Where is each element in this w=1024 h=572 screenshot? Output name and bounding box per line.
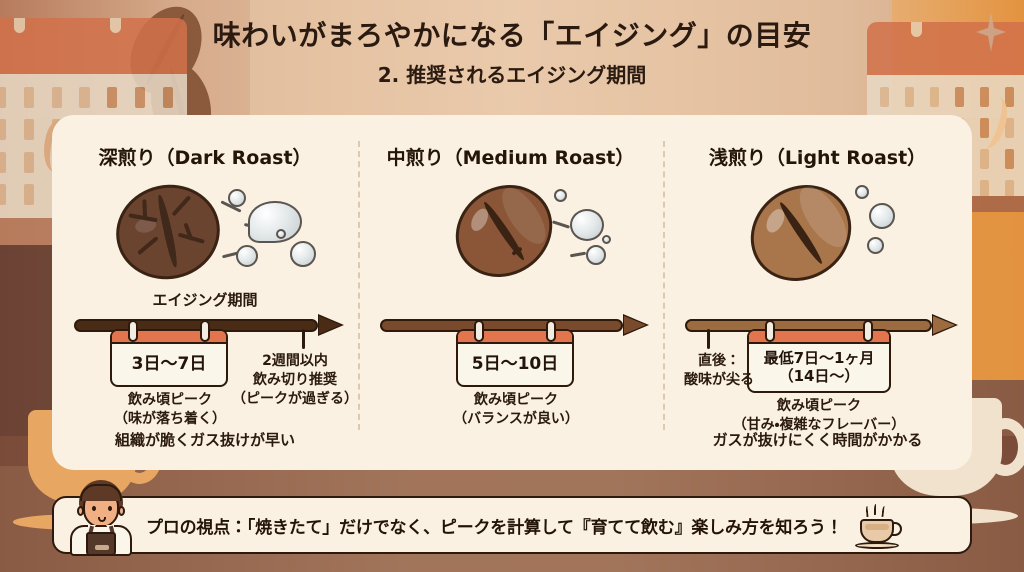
side-note-line2: 飲み切り推奨: [230, 371, 360, 390]
side-note-line1: 直後：: [673, 352, 765, 371]
avatar-hair-front: [80, 484, 122, 501]
peak-caption-line1: 飲み頃ピーク: [699, 397, 939, 416]
peak-caption-line2: （バランスが良い）: [434, 410, 598, 429]
aging-period-label: エイジング期間: [52, 289, 358, 310]
footer-note-light-roast: ガスが抜けにくく時間がかかる: [663, 429, 972, 450]
avatar-ear: [118, 506, 125, 516]
aging-range-line2: （14日〜）: [779, 368, 860, 386]
avatar-ear: [77, 506, 84, 516]
dark-roast-illustration: [52, 183, 358, 283]
barista-avatar-icon: [62, 478, 140, 556]
aging-range-line1: 最低7日〜1ヶ月: [764, 350, 875, 368]
calendar-card-medium-roast: 5日〜10日: [456, 329, 574, 387]
column-heading-medium-roast: 中煎り（Medium Roast）: [358, 143, 663, 170]
calendar-ring: [474, 320, 484, 342]
axis-arrowhead: [623, 314, 649, 336]
cup-saucer: [855, 542, 899, 549]
peak-caption-line1: 飲み頃ピーク: [434, 391, 598, 410]
calendar-ring: [200, 320, 210, 342]
pro-tip-message: プロの視点：「焼きたて」だけでなく、ピークを計算して『育てて飲む』楽しみ方を知ろ…: [54, 513, 970, 538]
peak-caption-dark-roast: 飲み頃ピーク （味が落ち着く）: [88, 391, 252, 429]
footer-note-dark-roast: 組織が脆くガス抜けが早い: [52, 429, 358, 450]
main-content-card: 深煎り（Dark Roast） エイジング期間: [52, 115, 972, 470]
steam-wisp: [865, 506, 869, 517]
cracked-coffee-bean-icon: [107, 175, 228, 289]
column-dark-roast: 深煎り（Dark Roast） エイジング期間: [52, 115, 358, 470]
gas-stem: [552, 220, 570, 228]
peak-caption-line1: 飲み頃ピーク: [88, 391, 252, 410]
avatar-eye: [108, 506, 112, 511]
aging-range-medium-roast: 5日〜10日: [458, 344, 572, 385]
gas-bubble-icon: [554, 189, 567, 202]
side-note-line3: （ピークが過ぎる）: [230, 390, 360, 409]
gas-bubble-icon: [586, 245, 606, 265]
column-heading-dark-roast: 深煎り（Dark Roast）: [52, 143, 358, 170]
axis-tick: [302, 329, 305, 349]
gas-bubble-icon: [855, 185, 869, 199]
axis-arrowhead: [318, 314, 344, 336]
side-note-light-roast: 直後： 酸味が尖る: [673, 352, 765, 390]
steam-wisp: [874, 504, 877, 515]
column-light-roast: 浅煎り（Light Roast）: [663, 115, 972, 470]
gas-bubble-icon: [290, 241, 316, 267]
pro-tip-banner: プロの視点：「焼きたて」だけでなく、ピークを計算して『育てて飲む』楽しみ方を知ろ…: [52, 496, 972, 554]
aging-range-dark-roast: 3日〜7日: [112, 344, 226, 385]
axis-tick: [707, 329, 710, 349]
gas-bubble-icon: [602, 235, 611, 244]
side-note-line1: 2週間以内: [230, 352, 360, 371]
avatar-eye: [92, 506, 96, 511]
page-subtitle: 2. 推奨されるエイジング期間: [0, 59, 1024, 88]
peak-caption-medium-roast: 飲み頃ピーク （バランスが良い）: [434, 391, 598, 429]
light-roast-illustration: [663, 183, 972, 283]
page-title: 味わいがまろやかになる「エイジング」の目安: [0, 20, 1024, 52]
gas-bubble-icon: [228, 189, 246, 207]
gas-stem: [570, 252, 586, 258]
gas-bubble-icon: [248, 201, 302, 243]
medium-roast-illustration: [358, 183, 663, 283]
cup-body: [860, 519, 894, 543]
aging-range-light-roast: 最低7日〜1ヶ月 （14日〜）: [749, 344, 889, 391]
coffee-bean-icon: [438, 167, 570, 296]
gas-bubble-icon: [276, 229, 286, 239]
infographic-canvas: 味わいがまろやかになる「エイジング」の目安 2. 推奨されるエイジング期間 深煎…: [0, 0, 1024, 572]
column-medium-roast: 中煎り（Medium Roast）: [358, 115, 663, 470]
title-block: 味わいがまろやかになる「エイジング」の目安 2. 推奨されるエイジング期間: [0, 20, 1024, 88]
coffee-cup-icon: [858, 506, 910, 550]
gas-bubble-icon: [570, 209, 604, 241]
peak-caption-line2: （味が落ち着く）: [88, 410, 252, 429]
calendar-ring: [128, 320, 138, 342]
calendar-ring: [546, 320, 556, 342]
gas-bubble-icon: [867, 237, 884, 254]
side-note-line2: 酸味が尖る: [673, 371, 765, 390]
calendar-card-light-roast: 最低7日〜1ヶ月 （14日〜）: [747, 329, 891, 393]
column-heading-light-roast: 浅煎り（Light Roast）: [663, 143, 972, 170]
axis-arrowhead: [932, 314, 958, 336]
gas-bubble-icon: [236, 245, 258, 267]
gas-bubble-icon: [869, 203, 895, 229]
light-coffee-bean-icon: [732, 166, 870, 300]
side-note-dark-roast: 2週間以内 飲み切り推奨 （ピークが過ぎる）: [230, 352, 360, 409]
bean-groove: [156, 194, 179, 268]
calendar-ring: [765, 320, 775, 342]
steam-wisp: [881, 506, 885, 517]
calendar-ring: [863, 320, 873, 342]
avatar-apron: [86, 532, 116, 556]
calendar-card-dark-roast: 3日〜7日: [110, 329, 228, 387]
